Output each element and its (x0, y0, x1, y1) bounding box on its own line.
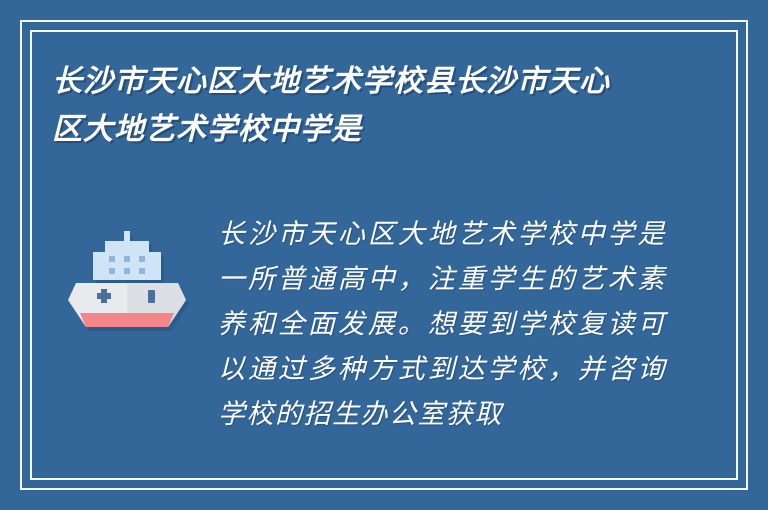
article-body-text: 长沙市天心区大地艺术学校中学是一所普通高中，注重学生的艺术素养和全面发展。想要到… (218, 212, 666, 437)
cruise-ship-illustration (68, 228, 196, 353)
cruise-ship-icon (68, 228, 196, 353)
poster-canvas: 长沙市天心区大地艺术学校县长沙市天心区大地艺术学校中学是 (0, 0, 768, 510)
page-title: 长沙市天心区大地艺术学校县长沙市天心区大地艺术学校中学是 (52, 58, 612, 154)
ship-mast (124, 231, 130, 241)
ship-waterline-stripe (80, 313, 174, 327)
